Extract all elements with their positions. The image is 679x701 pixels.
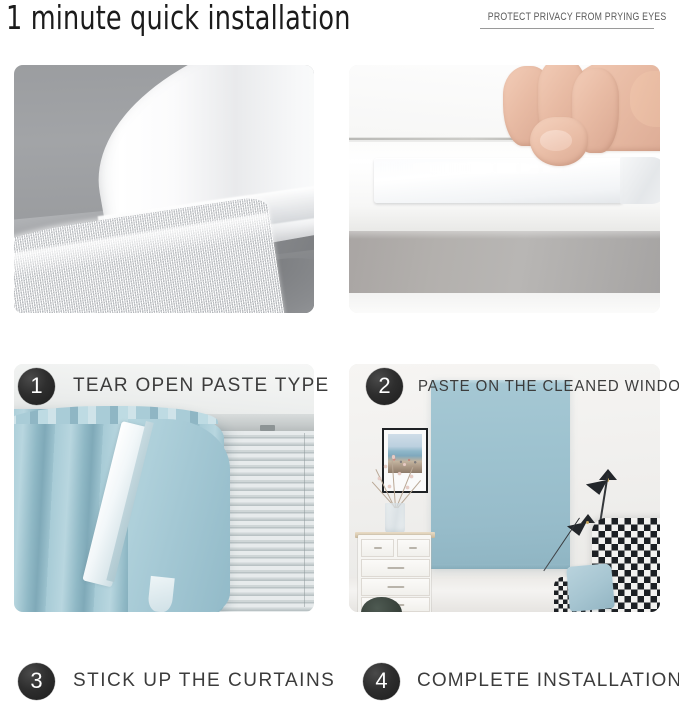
step-4-caption-row: 4 COMPLETE INSTALLATION [363, 661, 679, 701]
blue-cushion [566, 563, 615, 611]
page-header: 1 minute quick installation PROTECT PRIV… [0, 0, 679, 60]
flower-bud [388, 485, 391, 488]
grey-wall-band [349, 231, 660, 293]
drawer-handle [387, 586, 404, 589]
installed-blue-curtain [431, 380, 569, 568]
step-4-badge: 4 [363, 663, 400, 700]
step-1-photo [14, 65, 314, 313]
installation-steps-grid: 1 TEAR OPEN PASTE TYPE 2 PASTE ON THE CL… [0, 60, 679, 684]
thumb-nail [540, 130, 573, 151]
step-2-caption-row: 2 PASTE ON THE CLEANED WINDOW FRAME [366, 366, 679, 406]
step-2-photo [349, 65, 660, 313]
glass-vase [385, 503, 405, 534]
step-4-caption: COMPLETE INSTALLATION [417, 670, 679, 693]
dresser-drawer [361, 539, 394, 558]
dresser-drawer [361, 559, 429, 577]
hand-illustration [495, 65, 660, 179]
tagline-divider [480, 28, 654, 29]
drawer-handle [409, 547, 417, 550]
step-1-caption-row: 1 TEAR OPEN PASTE TYPE [18, 366, 330, 406]
drawer-handle [374, 547, 382, 550]
dresser-drawer [397, 539, 430, 558]
step-1-image-cell [14, 65, 314, 313]
flower-bud [410, 475, 413, 478]
step-3-caption-row: 3 STICK UP THE CURTAINS [18, 661, 335, 701]
frame-photo-bottom-sill [349, 293, 660, 313]
flower-bud [398, 472, 401, 475]
step-1-badge: 1 [18, 368, 55, 405]
blinds-cord [304, 433, 305, 607]
blinds-bracket [260, 425, 275, 431]
step-2-caption: PASTE ON THE CLEANED WINDOW FRAME [418, 377, 679, 395]
page-title: 1 minute quick installation [6, 0, 351, 39]
flower-bud [392, 455, 395, 458]
step-3-caption: STICK UP THE CURTAINS [73, 670, 335, 693]
flower-bud [384, 465, 387, 468]
step-3-badge: 3 [18, 663, 55, 700]
flower-bud [403, 463, 406, 466]
step-2-badge: 2 [366, 368, 403, 405]
flower-bud [406, 486, 409, 489]
grey-wall-band-highlight [349, 231, 660, 238]
drawer-handle [387, 567, 404, 570]
step-1-caption: TEAR OPEN PASTE TYPE [73, 375, 330, 398]
dried-flower-stems [372, 453, 422, 508]
step-2-image-cell [349, 65, 660, 313]
dresser-drawer [361, 578, 429, 596]
tagline-block: PROTECT PRIVACY FROM PRYING EYES [480, 11, 674, 29]
flower-stem [392, 458, 396, 508]
tagline-text: PROTECT PRIVACY FROM PRYING EYES [488, 11, 667, 23]
